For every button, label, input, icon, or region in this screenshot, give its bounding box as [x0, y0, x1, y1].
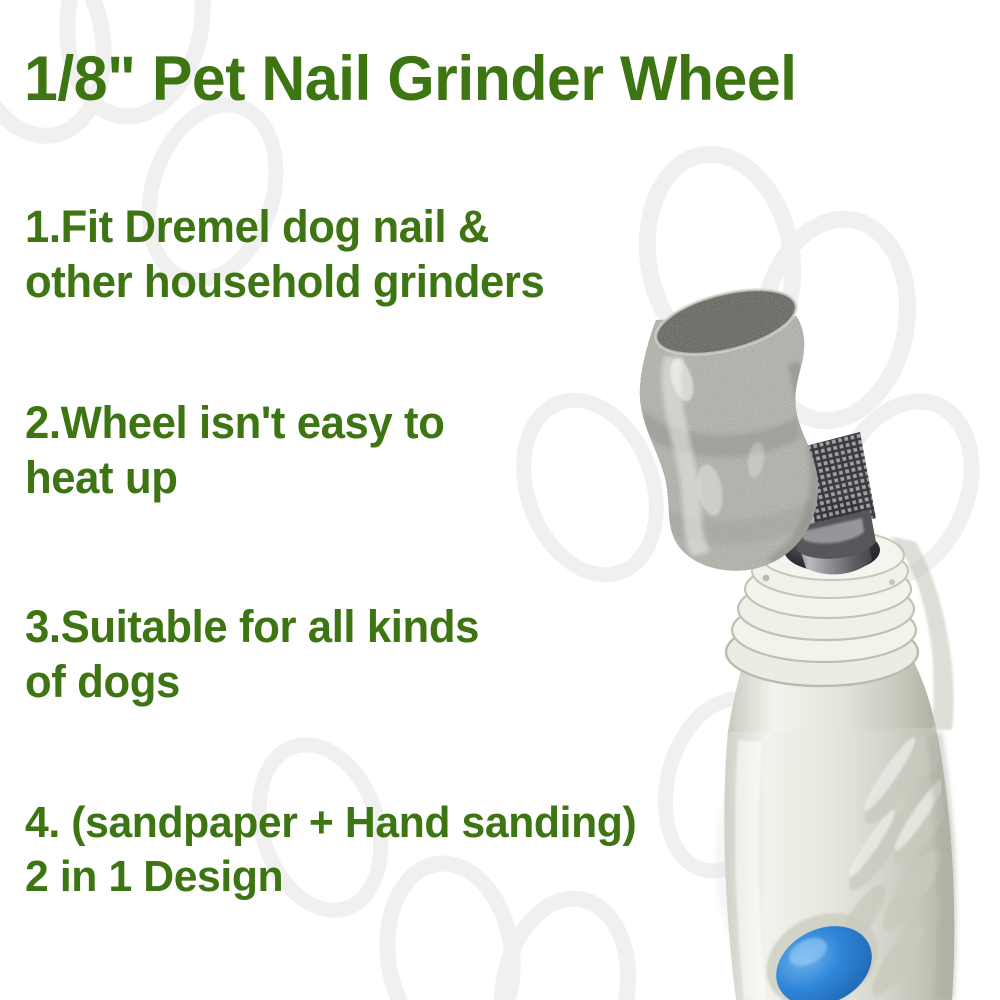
feature-item-2: 2.Wheel isn't easy to heat up	[25, 396, 444, 506]
feature-item-4: 4. (sandpaper + Hand sanding) 2 in 1 Des…	[25, 796, 636, 903]
feature-2-line-1: 2.Wheel isn't easy to	[25, 396, 444, 451]
feature-1-line-1: 1.Fit Dremel dog nail &	[25, 200, 544, 255]
text-layer: 1/8" Pet Nail Grinder Wheel 1.Fit Dremel…	[0, 0, 1000, 1000]
feature-2-line-2: heat up	[25, 451, 444, 506]
feature-4-line-2: 2 in 1 Design	[25, 850, 636, 904]
feature-item-3: 3.Suitable for all kinds of dogs	[25, 600, 479, 710]
feature-3-line-1: 3.Suitable for all kinds	[25, 600, 479, 655]
infographic-canvas: 1/8" Pet Nail Grinder Wheel 1.Fit Dremel…	[0, 0, 1000, 1000]
feature-4-line-1: 4. (sandpaper + Hand sanding)	[25, 796, 636, 850]
feature-item-1: 1.Fit Dremel dog nail & other household …	[25, 200, 544, 310]
feature-3-line-2: of dogs	[25, 655, 479, 710]
page-title: 1/8" Pet Nail Grinder Wheel	[24, 48, 956, 111]
feature-1-line-2: other household grinders	[25, 255, 544, 310]
